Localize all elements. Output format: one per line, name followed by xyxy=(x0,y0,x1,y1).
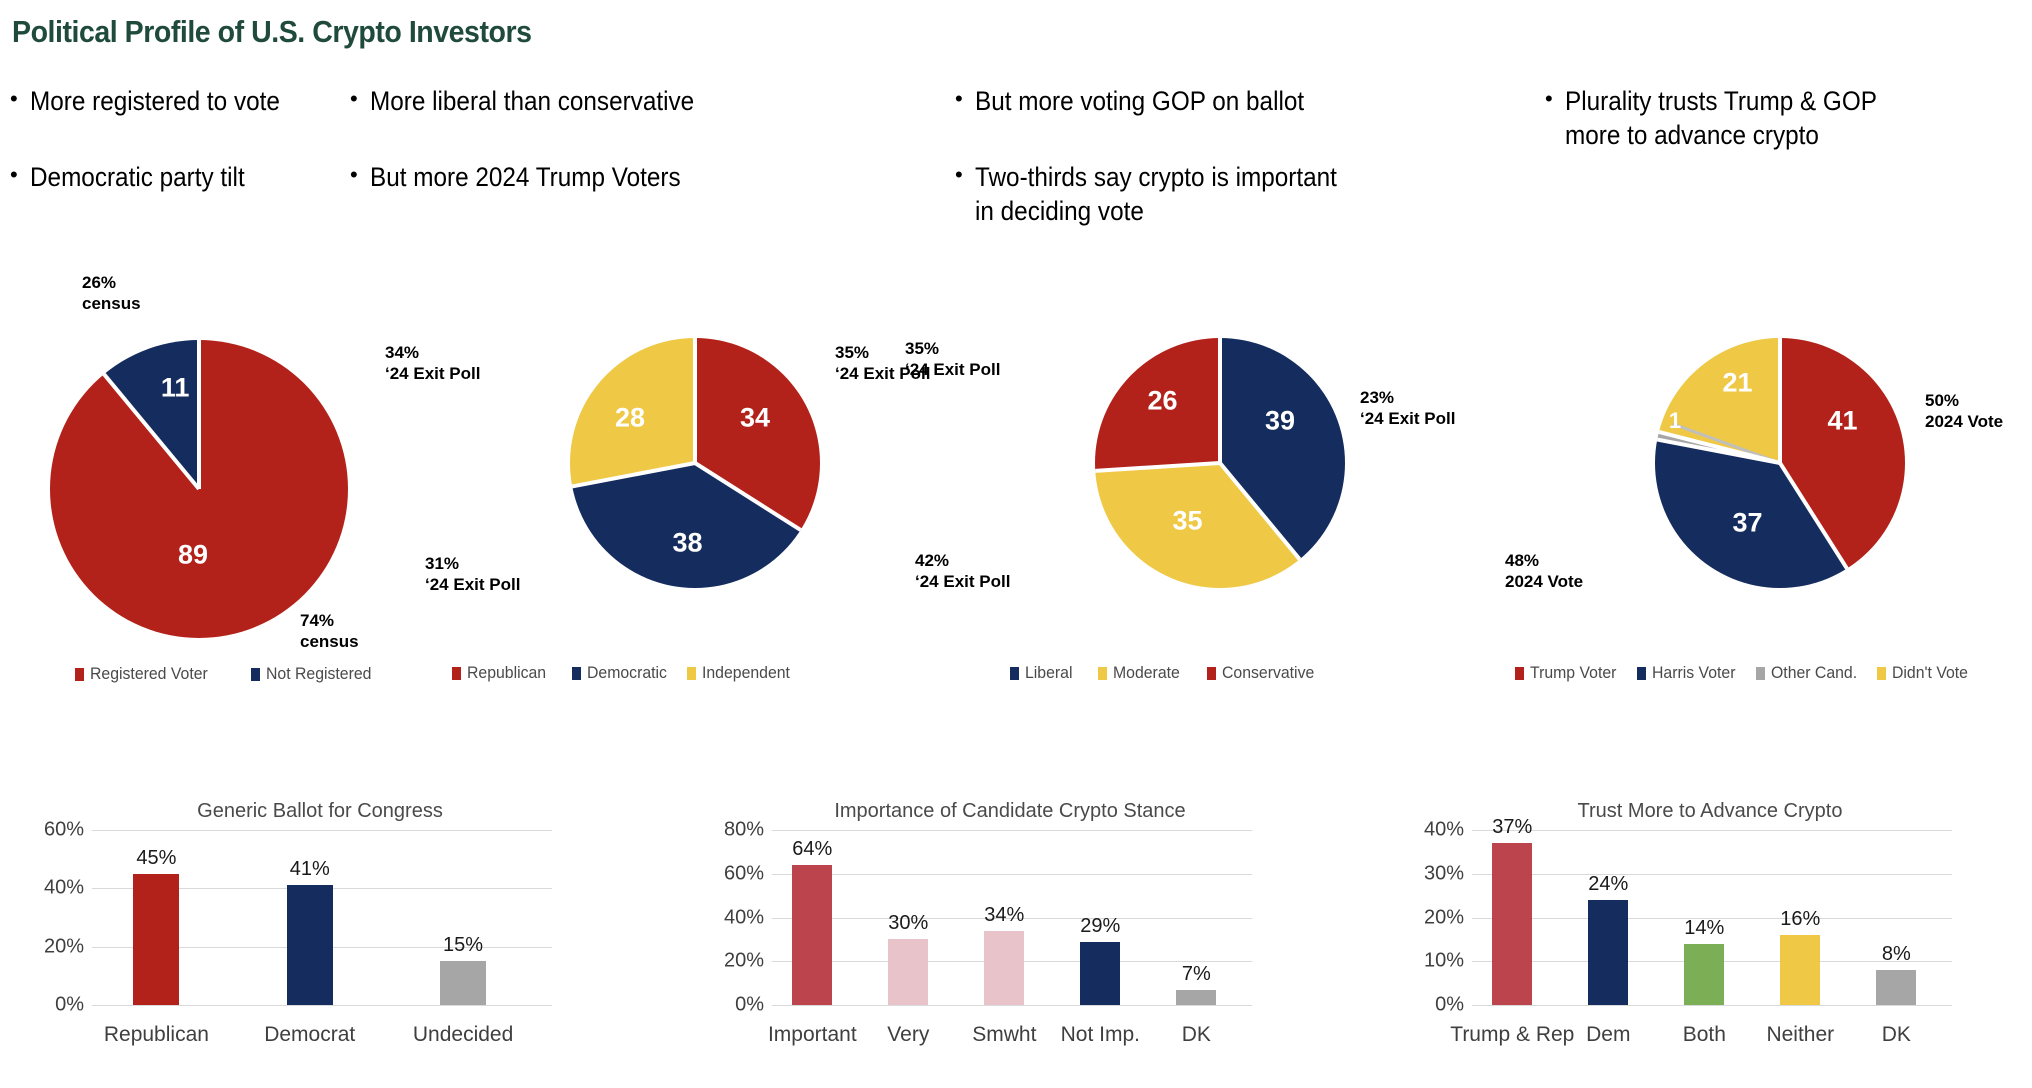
legend-item[interactable]: Independent xyxy=(687,663,797,683)
legend-label: Conservative xyxy=(1222,663,1314,683)
bar-value-label: 37% xyxy=(1492,816,1532,839)
x-axis-category-label: Undecided xyxy=(413,1023,513,1047)
legend-swatch-icon xyxy=(452,667,461,680)
legend-item[interactable]: Harris Voter xyxy=(1637,663,1742,683)
pie-annotation: 74% census xyxy=(300,610,359,652)
bar[interactable] xyxy=(984,931,1024,1005)
bullet-column-4: • Plurality trusts Trump & GOP more to a… xyxy=(1545,84,2025,178)
x-axis-category-label: Republican xyxy=(104,1023,209,1047)
legend-swatch-icon xyxy=(687,667,696,680)
bar[interactable] xyxy=(1780,935,1820,1005)
x-axis-category-label: Democrat xyxy=(264,1023,355,1047)
pie-chart-ideology: 39 35 26 35% ‘24 Exit Poll 23% ‘24 Exit … xyxy=(1010,290,1530,700)
bullet-dot-icon: • xyxy=(955,160,975,190)
pie-slice-value: 39 xyxy=(1265,405,1295,436)
bar[interactable] xyxy=(1684,944,1724,1005)
bullet-dot-icon: • xyxy=(350,160,370,190)
pie-slice-value: 26 xyxy=(1147,385,1177,416)
y-axis-tick-label: 60% xyxy=(44,819,84,842)
bar-value-label: 15% xyxy=(443,934,483,957)
legend-item[interactable]: Republican xyxy=(452,663,552,683)
bar-value-label: 14% xyxy=(1684,917,1724,940)
bullet-dot-icon: • xyxy=(10,160,30,190)
bullet-item: • Two-thirds say crypto is important in … xyxy=(955,160,1395,228)
bar[interactable] xyxy=(1588,900,1628,1005)
bullet-column-1: • More registered to vote • Democratic p… xyxy=(10,84,350,220)
pie-annotation: 50% 2024 Vote xyxy=(1925,390,2003,432)
pie-slice-value: 35 xyxy=(1172,505,1202,536)
bullet-column-3: • But more voting GOP on ballot • Two-th… xyxy=(955,84,1395,254)
pie-slice-value: 11 xyxy=(161,372,190,403)
pie-annotation: 23% ‘24 Exit Poll xyxy=(1360,387,1455,429)
legend-item[interactable]: Moderate xyxy=(1098,663,1185,683)
pie-slice-value: 89 xyxy=(178,539,208,570)
bullet-item: • Democratic party tilt xyxy=(10,160,350,194)
legend-swatch-icon xyxy=(1010,667,1019,680)
pie-legend: Registered Voter Not Registered xyxy=(75,664,399,684)
legend-item[interactable]: Not Registered xyxy=(251,664,379,684)
plot-area: 0%10%20%30%40%37%Trump & Rep24%Dem14%Bot… xyxy=(1472,830,1952,1005)
legend-label: Democratic xyxy=(587,663,667,683)
y-axis-tick-label: 80% xyxy=(724,819,764,842)
bullet-item: • More registered to vote xyxy=(10,84,350,118)
x-axis-category-label: Trump & Rep xyxy=(1450,1023,1574,1047)
bullet-item: • Plurality trusts Trump & GOP more to a… xyxy=(1545,84,2025,152)
plot-area: 0%20%40%60%45%Republican41%Democrat15%Un… xyxy=(92,830,552,1005)
gridline xyxy=(92,830,552,831)
bullet-column-2: • More liberal than conservative • But m… xyxy=(350,84,750,220)
legend-label: Moderate xyxy=(1113,663,1180,683)
y-axis-tick-label: 10% xyxy=(1424,950,1464,973)
legend-item[interactable]: Liberal xyxy=(1010,663,1076,683)
bar[interactable] xyxy=(1080,942,1120,1005)
pie-slice-value: 38 xyxy=(672,528,702,559)
legend-swatch-icon xyxy=(572,667,581,680)
pie-annotation: 42% ‘24 Exit Poll xyxy=(915,550,1010,592)
y-axis-tick-label: 30% xyxy=(1424,862,1464,885)
legend-label: Other Cand. xyxy=(1771,663,1857,683)
y-axis-tick-label: 0% xyxy=(1435,994,1464,1017)
gridline xyxy=(772,874,1252,875)
gridline xyxy=(772,830,1252,831)
bar[interactable] xyxy=(133,874,179,1005)
pie-slice-value: 34 xyxy=(740,403,770,434)
pie-legend: Liberal Moderate Conservative xyxy=(1010,663,1341,683)
bar-value-label: 45% xyxy=(136,847,176,870)
legend-item[interactable]: Democratic xyxy=(572,663,673,683)
page-title: Political Profile of U.S. Crypto Investo… xyxy=(12,14,531,50)
legend-swatch-icon xyxy=(1515,667,1524,680)
legend-swatch-icon xyxy=(1637,667,1646,680)
x-axis-category-label: Important xyxy=(768,1023,857,1047)
pie-slice-value: 41 xyxy=(1827,405,1857,436)
pie-chart-2024-presidential-vote: 41 37 1 21 50% 2024 Vote 48% 2024 Vote T… xyxy=(1520,290,2032,700)
gridline xyxy=(772,1005,1252,1006)
bullet-item: • But more 2024 Trump Voters xyxy=(350,160,750,194)
plot-area: 0%20%40%60%80%64%Important30%Very34%Smwh… xyxy=(772,830,1252,1005)
x-axis-category-label: Not Imp. xyxy=(1061,1023,1140,1047)
bullet-text: Democratic party tilt xyxy=(30,160,245,194)
bullet-text: Plurality trusts Trump & GOP more to adv… xyxy=(1565,84,1877,152)
pie-slice-value: 21 xyxy=(1722,368,1752,399)
pie-slice-value: 37 xyxy=(1732,508,1762,539)
legend-label: Liberal xyxy=(1025,663,1072,683)
legend-label: Republican xyxy=(467,663,546,683)
bullet-item: • More liberal than conservative xyxy=(350,84,750,118)
gridline xyxy=(1472,1005,1952,1006)
bullet-text: More registered to vote xyxy=(30,84,280,118)
pie-legend: Trump Voter Harris Voter Other Cand. Did… xyxy=(1515,663,1994,683)
chart-title: Generic Ballot for Congress xyxy=(20,800,620,823)
pie-slice-value: 1 xyxy=(1669,408,1681,434)
x-axis-category-label: Both xyxy=(1683,1023,1726,1047)
bar[interactable] xyxy=(1176,990,1216,1005)
legend-label: Independent xyxy=(702,663,790,683)
y-axis-tick-label: 0% xyxy=(735,994,764,1017)
bar-chart-trust-more-to-advance-crypto: Trust More to Advance Crypto 0%10%20%30%… xyxy=(1400,800,2020,1080)
legend-swatch-icon xyxy=(1877,667,1886,680)
bar-value-label: 16% xyxy=(1780,908,1820,931)
bullet-text: Two-thirds say crypto is important in de… xyxy=(975,160,1337,228)
pie-annotation: 26% census xyxy=(82,272,141,314)
bar-value-label: 64% xyxy=(792,838,832,861)
legend-swatch-icon xyxy=(251,668,260,681)
bullet-dot-icon: • xyxy=(1545,84,1565,114)
x-axis-category-label: Dem xyxy=(1586,1023,1630,1047)
bar[interactable] xyxy=(792,865,832,1005)
y-axis-tick-label: 20% xyxy=(1424,906,1464,929)
legend-label: Didn't Vote xyxy=(1892,663,1968,683)
chart-title: Importance of Candidate Crypto Stance xyxy=(700,800,1320,823)
pie-slices xyxy=(1095,338,1345,588)
y-axis-tick-label: 0% xyxy=(55,994,84,1017)
x-axis-category-label: DK xyxy=(1882,1023,1911,1047)
x-axis-category-label: Very xyxy=(887,1023,929,1047)
pie-slice-value: 28 xyxy=(615,403,645,434)
y-axis-tick-label: 40% xyxy=(1424,819,1464,842)
legend-swatch-icon xyxy=(1207,667,1216,680)
gridline xyxy=(1472,830,1952,831)
bar-value-label: 7% xyxy=(1182,963,1211,986)
legend-item[interactable]: Other Cand. xyxy=(1756,663,1864,683)
y-axis-tick-label: 60% xyxy=(724,862,764,885)
bar[interactable] xyxy=(440,961,486,1005)
legend-label: Registered Voter xyxy=(90,664,208,684)
x-axis-category-label: DK xyxy=(1182,1023,1211,1047)
legend-item[interactable]: Registered Voter xyxy=(75,664,217,684)
bar-chart-generic-ballot-for-congress: Generic Ballot for Congress 0%20%40%60%4… xyxy=(20,800,620,1080)
y-axis-tick-label: 40% xyxy=(44,877,84,900)
bar-value-label: 30% xyxy=(888,912,928,935)
bar[interactable] xyxy=(1876,970,1916,1005)
pie-annotation: 35% ‘24 Exit Poll xyxy=(905,338,1000,380)
pie-chart-party-identification: 34 38 28 34% ‘24 Exit Poll 35% ‘24 Exit … xyxy=(460,290,980,700)
y-axis-tick-label: 20% xyxy=(44,935,84,958)
gridline xyxy=(92,1005,552,1006)
bullet-dot-icon: • xyxy=(350,84,370,114)
bar-value-label: 41% xyxy=(290,858,330,881)
bar[interactable] xyxy=(287,885,333,1005)
y-axis-tick-label: 40% xyxy=(724,906,764,929)
bar[interactable] xyxy=(888,939,928,1005)
pie-legend: Republican Democratic Independent xyxy=(452,663,817,683)
bullet-item: • But more voting GOP on ballot xyxy=(955,84,1395,118)
legend-swatch-icon xyxy=(75,668,84,681)
legend-item[interactable]: Didn't Vote xyxy=(1877,663,1974,683)
pie-annotation: 31% ‘24 Exit Poll xyxy=(425,553,520,595)
bar-value-label: 8% xyxy=(1882,943,1911,966)
bar-value-label: 24% xyxy=(1588,873,1628,896)
x-axis-category-label: Smwht xyxy=(972,1023,1036,1047)
pie-annotation: 48% 2024 Vote xyxy=(1505,550,1583,592)
pie-annotation: 34% ‘24 Exit Poll xyxy=(385,342,480,384)
legend-swatch-icon xyxy=(1098,667,1107,680)
y-axis-tick-label: 20% xyxy=(724,950,764,973)
legend-swatch-icon xyxy=(1756,667,1765,680)
bar-value-label: 29% xyxy=(1080,915,1120,938)
pie-slices xyxy=(1655,338,1905,588)
legend-label: Not Registered xyxy=(266,664,371,684)
bullet-text: More liberal than conservative xyxy=(370,84,694,118)
legend-label: Trump Voter xyxy=(1530,663,1616,683)
bar[interactable] xyxy=(1492,843,1532,1005)
legend-item[interactable]: Conservative xyxy=(1207,663,1321,683)
bullet-dot-icon: • xyxy=(10,84,30,114)
bar-value-label: 34% xyxy=(984,904,1024,927)
legend-label: Harris Voter xyxy=(1652,663,1735,683)
gridline xyxy=(1472,874,1952,875)
x-axis-category-label: Neither xyxy=(1766,1023,1834,1047)
pie-slices xyxy=(50,340,348,638)
bullet-text: But more 2024 Trump Voters xyxy=(370,160,681,194)
bar-chart-importance-of-candidate-crypto-stance: Importance of Candidate Crypto Stance 0%… xyxy=(700,800,1320,1080)
legend-item[interactable]: Trump Voter xyxy=(1515,663,1623,683)
bullet-text: But more voting GOP on ballot xyxy=(975,84,1304,118)
bullet-dot-icon: • xyxy=(955,84,975,114)
